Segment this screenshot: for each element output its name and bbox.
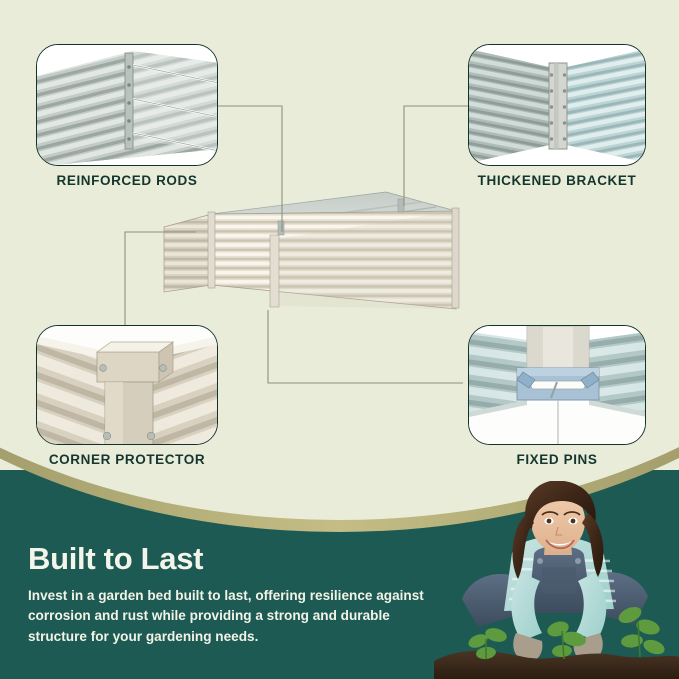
callout-fixed-pins[interactable]: FIXED PINS [468,325,646,467]
callout-corner-protector[interactable]: CORNER PROTECTOR [36,325,218,467]
corner-protector-detail-image [37,326,218,445]
callout-label-thickened-bracket: THICKENED BRACKET [468,173,646,188]
banner-text-block: Built to Last Invest in a garden bed bui… [28,543,438,648]
reinforced-rods-detail-image [37,45,218,166]
banner-title: Built to Last [28,543,438,576]
connector-corner-protector [125,232,196,325]
connector-thickened-bracket [404,106,468,206]
callout-thickened-bracket[interactable]: THICKENED BRACKET [468,44,646,188]
callout-frame-corner-protector [36,325,218,445]
callout-label-fixed-pins: FIXED PINS [468,452,646,467]
callout-frame-reinforced-rods [36,44,218,166]
fixed-pins-detail-image [469,326,646,445]
callout-reinforced-rods[interactable]: REINFORCED RODS [36,44,218,188]
gardener-photo [434,481,679,679]
callout-frame-thickened-bracket [468,44,646,166]
product-feature-infographic: REINFORCED RODS [0,0,679,679]
callout-label-corner-protector: CORNER PROTECTOR [36,452,218,467]
callout-label-reinforced-rods: REINFORCED RODS [36,173,218,188]
banner-body: Invest in a garden bed built to last, of… [28,586,438,648]
connector-fixed-pins [268,310,463,383]
thickened-bracket-detail-image [469,45,646,166]
callout-frame-fixed-pins [468,325,646,445]
connector-reinforced-rods [218,106,282,232]
